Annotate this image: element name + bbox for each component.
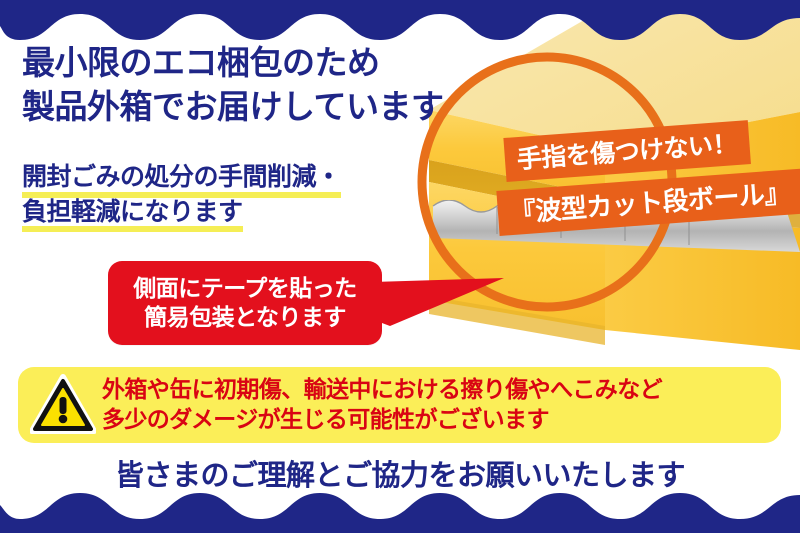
subheadline-line-2: 負担軽減になります (22, 195, 243, 230)
warning-line-2: 多少のダメージが生じる可能性がございます (102, 405, 662, 435)
warning-box: 外箱や缶に初期傷、輸送中における擦り傷やへこみなど 多少のダメージが生じる可能性… (18, 367, 781, 443)
warning-line-1: 外箱や缶に初期傷、輸送中における擦り傷やへこみなど (102, 375, 662, 405)
warning-triangle-icon (30, 374, 96, 436)
headline: 最小限のエコ梱包のため 製品外箱でお届けしています (22, 44, 542, 127)
red-callout-box: 側面にテープを貼った 簡易包装となります (108, 261, 382, 345)
headline-line-2: 製品外箱でお届けしています (22, 88, 542, 126)
red-callout-line-1: 側面にテープを貼った (133, 274, 357, 303)
closing-line: 皆さまのご理解とご協力をお願いいたします (0, 452, 800, 494)
subheadline: 開封ごみの処分の手間削減・ 負担軽減になります (22, 160, 442, 229)
warning-text: 外箱や缶に初期傷、輸送中における擦り傷やへこみなど 多少のダメージが生じる可能性… (102, 375, 662, 435)
subheadline-line-1: 開封ごみの処分の手間削減・ (22, 160, 341, 195)
headline-line-1: 最小限のエコ梱包のため (22, 44, 542, 82)
red-callout-line-2: 簡易包装となります (144, 303, 346, 332)
notice-banner: 最小限のエコ梱包のため 製品外箱でお届けしています 開封ごみの処分の手間削減・ … (0, 0, 800, 533)
